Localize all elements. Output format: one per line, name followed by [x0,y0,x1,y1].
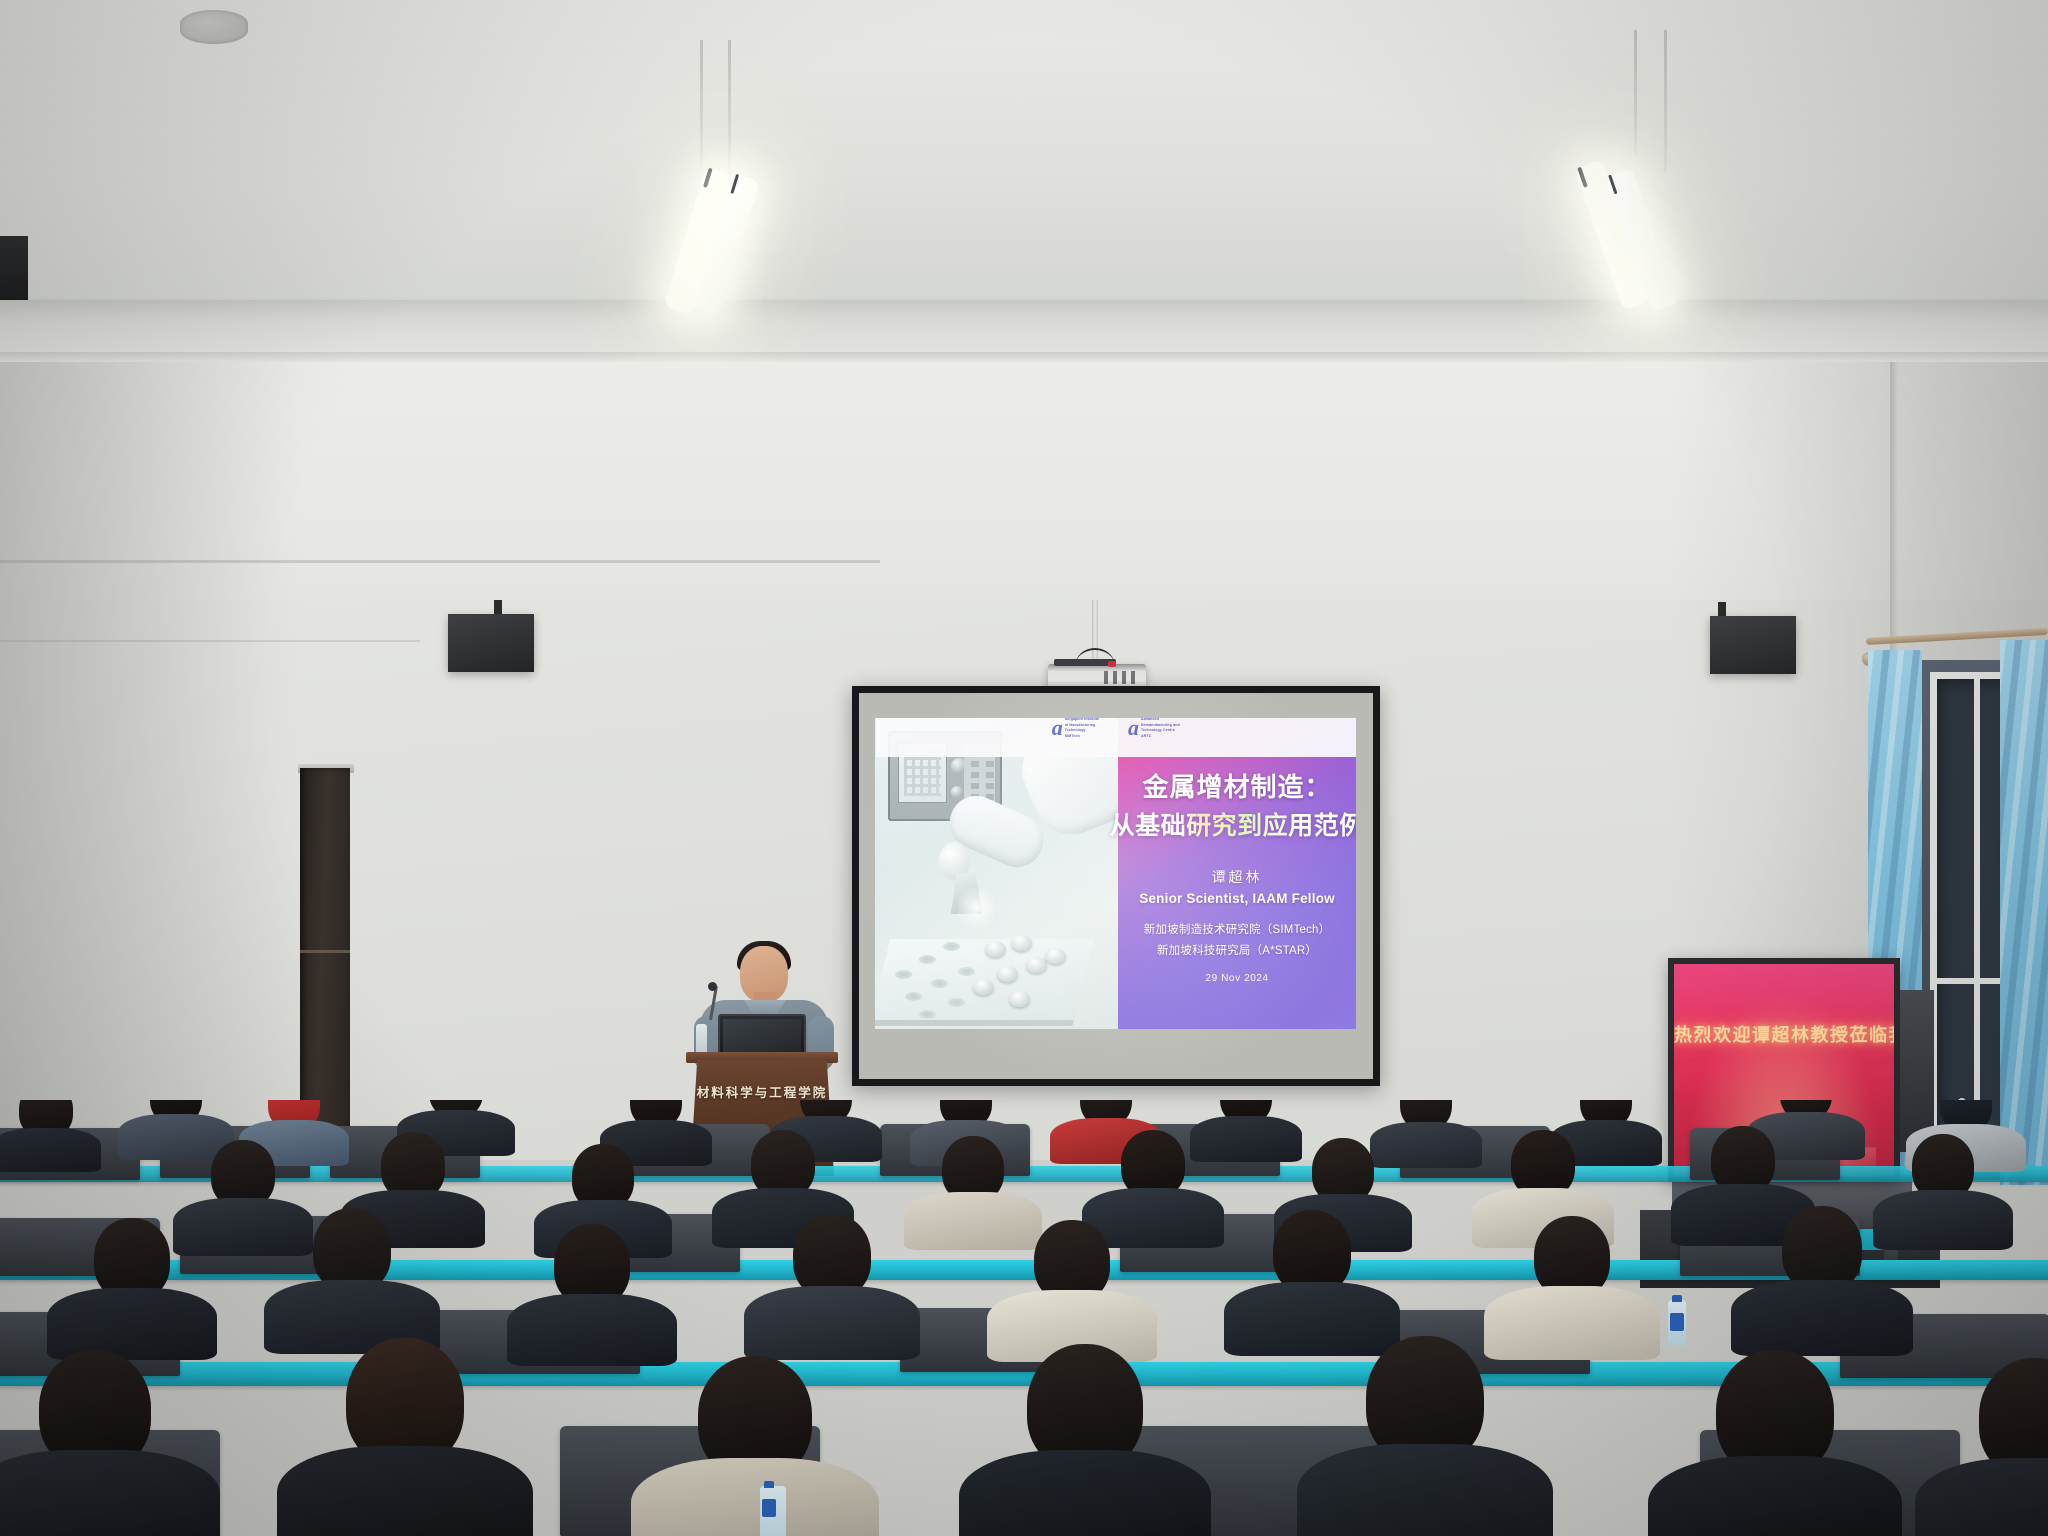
logo-sub: ARTC [1141,734,1180,738]
metal-ring [973,979,994,995]
projector-ports [1104,671,1140,684]
audience-person [300,1208,404,1328]
projector-bracket [1054,659,1116,666]
logo-line-1: Advanced [1141,718,1180,722]
slide-title-line-1: 金属增材制造： [1143,767,1332,804]
cnc-knob [951,786,963,798]
logo-sub: SIMTech [1065,734,1099,738]
audience-person [80,1218,184,1338]
person-body [173,1198,313,1256]
slide-photo [875,718,1118,1029]
wall-speaker-icon [1710,616,1796,674]
audience-person [1390,1100,1462,1150]
metal-ring [1009,991,1030,1007]
doorway-detail [300,950,350,953]
metal-ring [997,966,1018,982]
microphone-head [708,982,717,991]
person-body [1190,1116,1302,1162]
podium-sign: 材料科学与工程学院 [690,1082,834,1101]
process-glow [958,883,994,933]
laptop-screen [723,1019,801,1053]
person-body [1370,1122,1482,1168]
person-body [1484,1286,1660,1360]
lecture-hall-photo: a ★ Singapore Institute of Manufacturing… [0,0,2048,1536]
light-hanger [1634,30,1637,156]
audience-person [140,1100,212,1144]
audience-person [1700,1350,1850,1536]
person-body [1648,1456,1902,1536]
slide-text-panel: a ★ Singapore Institute of Manufacturing… [1118,718,1356,1029]
metal-ring [1026,957,1047,973]
light-hanger [1664,30,1667,172]
screen-surface: a ★ Singapore Institute of Manufacturing… [859,693,1373,1079]
audience-person [1020,1220,1124,1340]
audience-person [20,1350,170,1536]
audience-person [780,1214,884,1334]
doorway-icon[interactable] [300,768,350,1140]
person-body [959,1450,1211,1536]
ceiling-beam [0,352,2048,362]
slide-title-line-2: 从基础研究到应用范例 [1110,806,1356,842]
audience-person [330,1338,480,1536]
audience-person [740,1130,826,1226]
logo-line-1: Singapore Institute [1065,718,1099,722]
audience-person [1010,1344,1160,1536]
audience-person [1110,1130,1196,1226]
audience-person [1960,1358,2048,1536]
logo-artc: a ★ Advanced Remanufacturing and Technol… [1128,718,1180,739]
person-body [1731,1280,1913,1356]
audience-person [1900,1134,1986,1230]
audience-person [1520,1216,1624,1336]
person-body [631,1458,879,1536]
person-body [277,1446,533,1536]
logo-mark-a: a [1052,718,1062,739]
audience-person [1210,1100,1282,1144]
person-body [0,1128,101,1172]
water-bottle-icon [1668,1300,1686,1346]
audience-person [680,1356,830,1536]
logo-simtech: a ★ Singapore Institute of Manufacturing… [1052,718,1099,739]
table-hole [919,955,936,964]
light-hanger [700,40,703,170]
audience-person [1500,1130,1586,1226]
logo-mark-a: a [1128,718,1138,739]
ceiling-soffit [0,300,2048,352]
audience-person [10,1100,82,1156]
audience [0,1100,2048,1536]
slide-speaker-role: Senior Scientist, IAAM Fellow [1139,891,1335,906]
audience-person [620,1100,692,1148]
wall-speaker-icon [448,614,534,672]
slide-speaker-name: 谭超林 [1212,867,1263,887]
logo-line-2: of Manufacturing [1065,723,1099,727]
wall-shading-left [0,362,300,1162]
audience-person [1770,1206,1874,1326]
slide-affiliation-2: 新加坡科技研究局（A*STAR） [1157,942,1317,958]
person-body [1873,1190,2013,1250]
ceiling-vent-icon [180,10,248,44]
slide-logo-bar: a ★ Singapore Institute of Manufacturing… [876,718,1357,757]
logo-line-3: Technology Centre [1141,728,1180,732]
table-hole [905,992,922,1001]
audience-person [930,1136,1016,1232]
audience-person [540,1224,644,1344]
table-hole [958,967,975,976]
audience-person [1350,1336,1500,1536]
audience-person [200,1140,286,1236]
person-body [0,1450,220,1536]
water-bottle-icon [760,1486,786,1536]
projector-indicator [1108,661,1116,667]
light-hanger [728,40,731,190]
person-body [507,1294,677,1366]
person-body [1297,1444,1553,1536]
person-body [744,1286,920,1360]
metal-ring [1045,948,1066,964]
audience-person [1260,1210,1364,1330]
metal-ring [985,941,1006,957]
logo-line-2: Remanufacturing and [1141,723,1180,727]
slide-date: 29 Nov 2024 [1205,973,1268,984]
slide-affiliation-1: 新加坡制造技术研究院（SIMTech） [1144,921,1331,937]
window-mullion [1974,672,1980,1167]
logo-line-3: Technology [1065,728,1099,732]
presentation-slide: a ★ Singapore Institute of Manufacturing… [875,718,1356,1029]
ceiling [0,0,2048,330]
projection-screen: a ★ Singapore Institute of Manufacturing… [852,686,1380,1086]
table-hole [895,970,912,979]
welcome-banner-text: 热烈欢迎谭超林教授莅临我院 [1674,1021,1894,1047]
